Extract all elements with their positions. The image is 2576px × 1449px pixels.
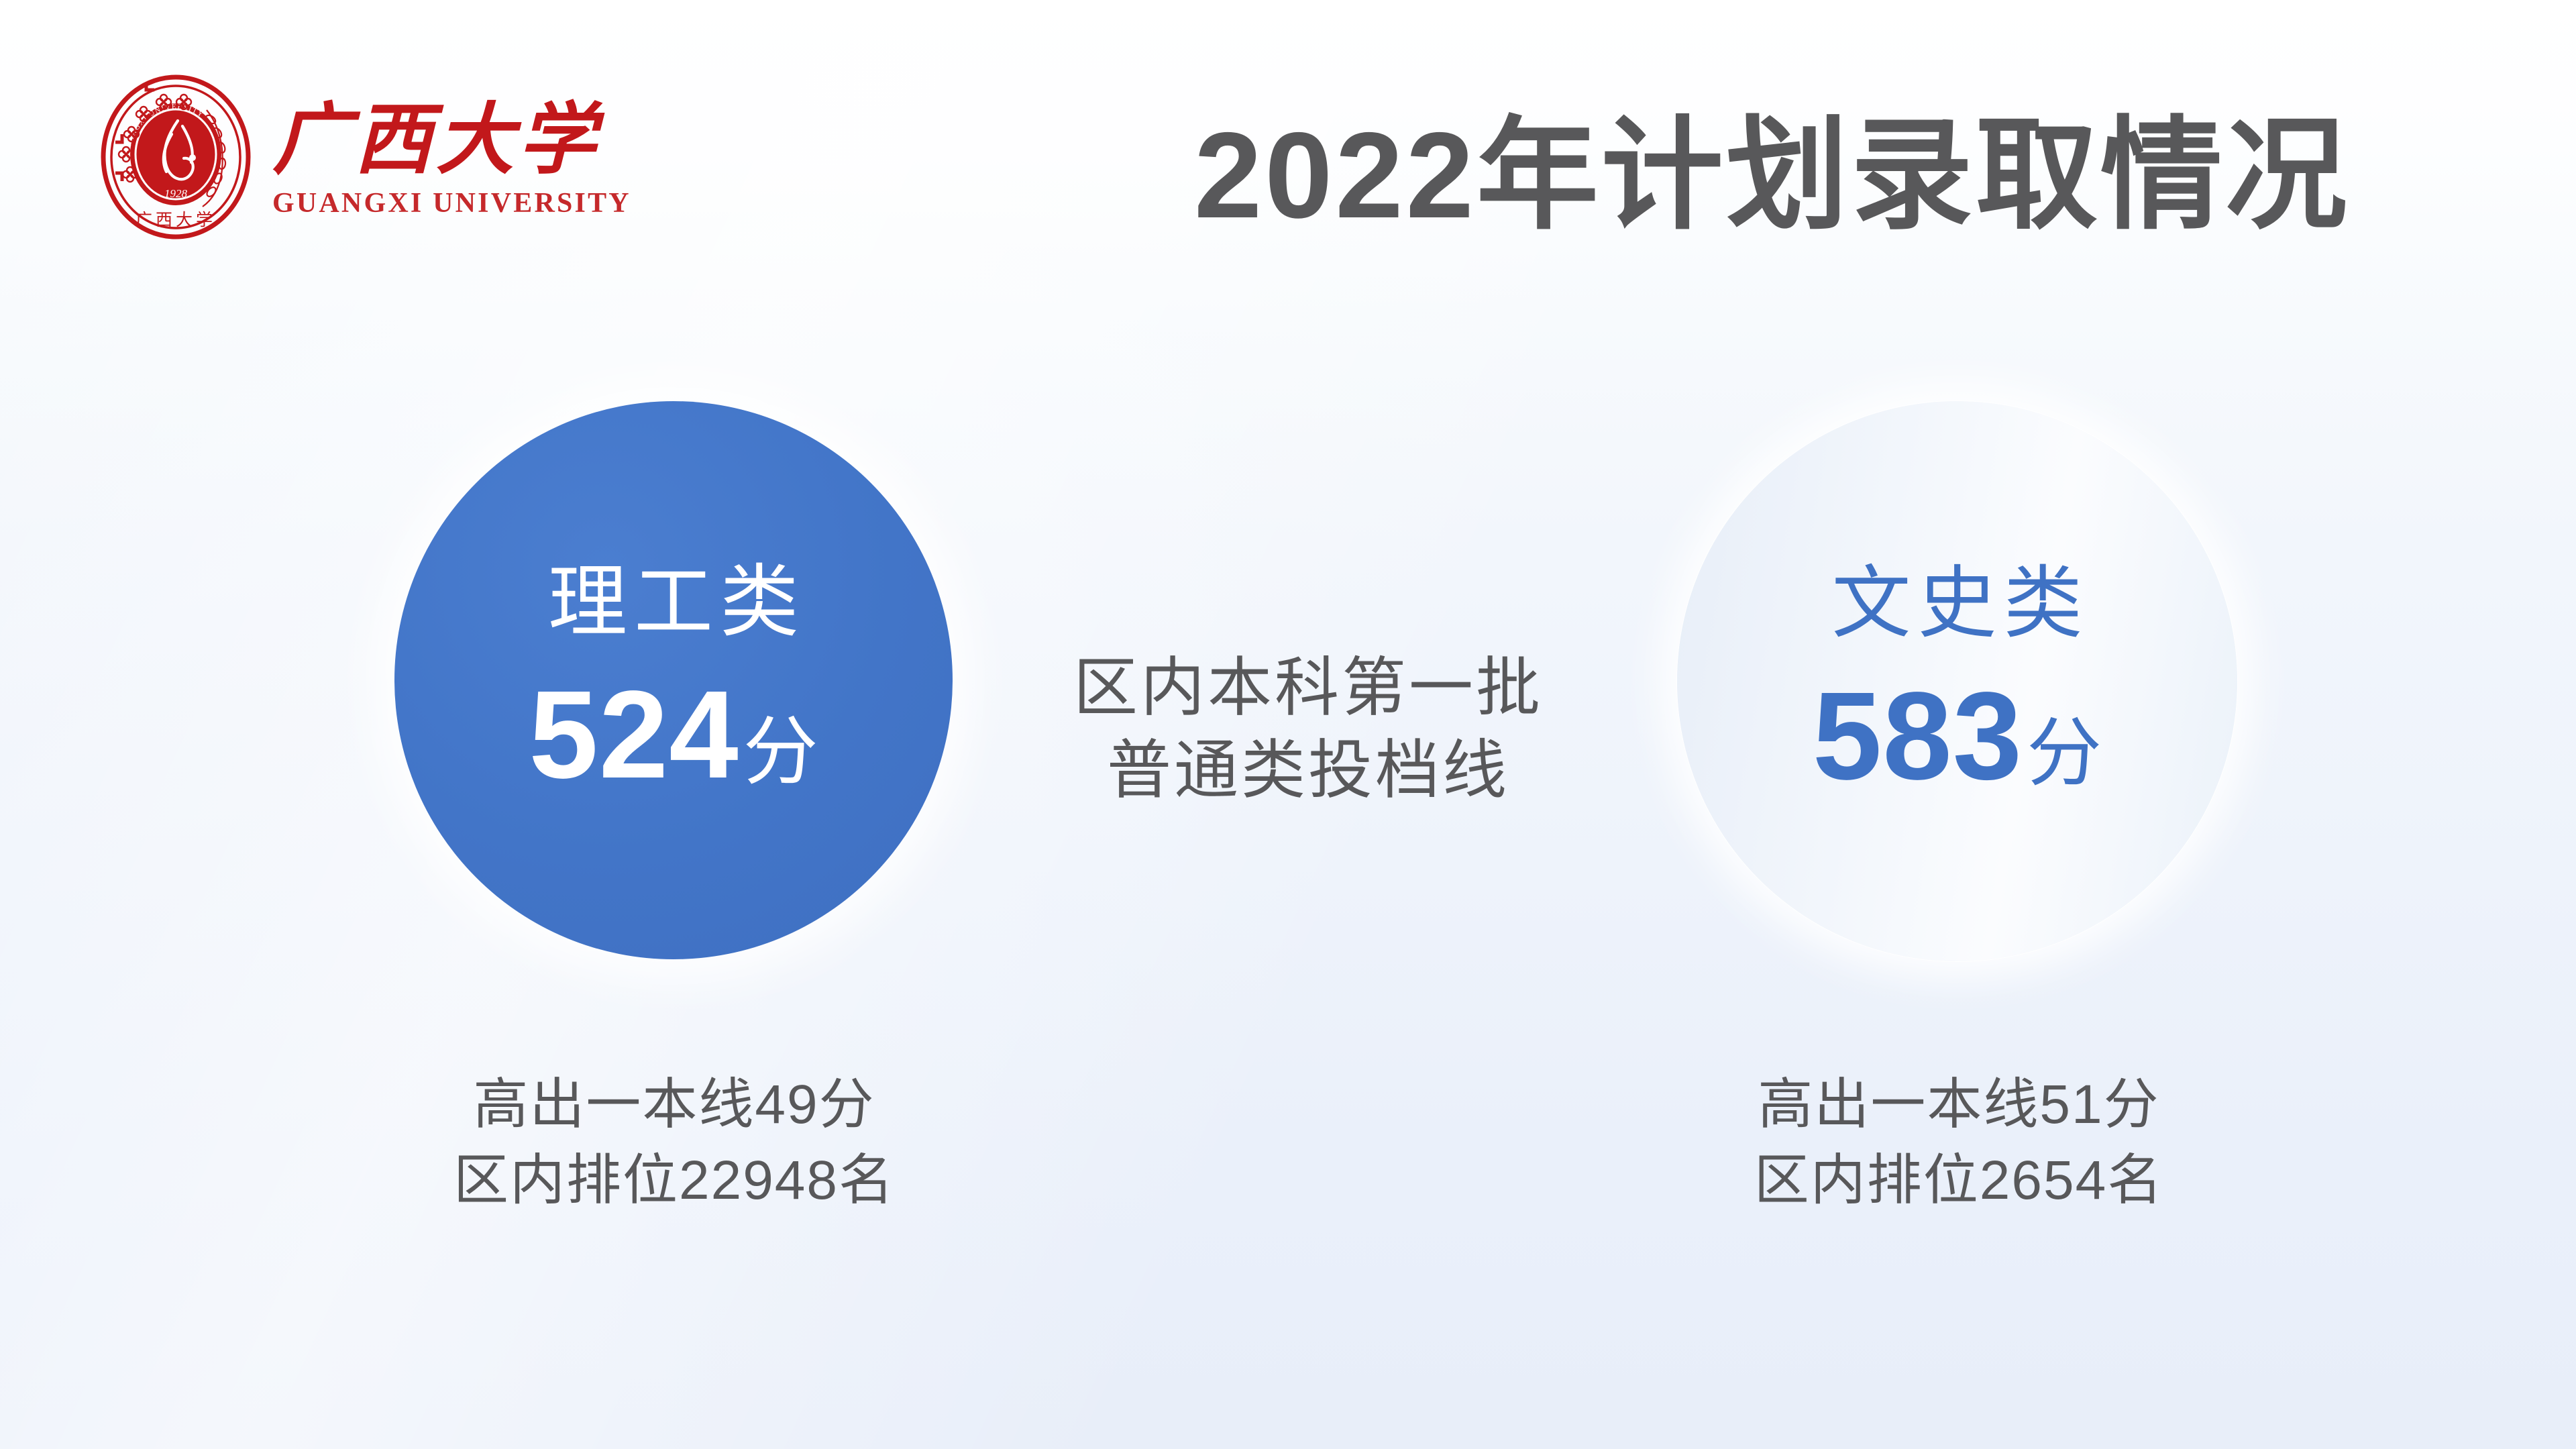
footnote-science-line-2: 区内排位22948名 <box>305 1142 1043 1218</box>
score-number-arts: 583 <box>1813 674 2023 799</box>
footnote-arts-line-1: 高出一本线51分 <box>1590 1067 2328 1142</box>
score-unit-arts: 分 <box>2027 716 2102 791</box>
score-unit-science: 分 <box>743 714 818 790</box>
footnote-arts: 高出一本线51分 区内排位2654名 <box>1590 1067 2328 1218</box>
footnote-science-line-1: 高出一本线49分 <box>305 1067 1043 1142</box>
logo-wordmark: 广西大学 GUANGXI UNIVERSITY <box>272 95 631 219</box>
logo-chinese-name: 广西大学 <box>272 101 631 180</box>
slide-root: GUANGXI UNIVERSITY 1928 广西大学 <box>0 0 2576 1449</box>
middle-caption: 区内本科第一批 普通类投档线 <box>973 647 1644 812</box>
score-circle-arts: 文史类 583 分 <box>1677 401 2237 961</box>
score-circle-science: 理工类 524 分 <box>394 401 953 959</box>
logo-english-name: GUANGXI UNIVERSITY <box>272 187 631 219</box>
score-number-science: 524 <box>529 673 739 798</box>
svg-text:1928: 1928 <box>164 187 188 200</box>
score-value-science: 524 分 <box>529 673 818 798</box>
score-circle-label-arts: 文史类 <box>1825 564 2089 643</box>
university-logo: GUANGXI UNIVERSITY 1928 广西大学 <box>99 72 631 241</box>
footnote-arts-line-2: 区内排位2654名 <box>1590 1142 2328 1218</box>
score-circle-label-science: 理工类 <box>541 563 806 642</box>
score-value-arts: 583 分 <box>1813 674 2102 799</box>
svg-text:广西大学: 广西大学 <box>136 211 216 229</box>
middle-caption-line-1: 区内本科第一批 <box>973 647 1644 730</box>
middle-caption-line-2: 普通类投档线 <box>973 730 1644 812</box>
footnote-science: 高出一本线49分 区内排位22948名 <box>305 1067 1043 1218</box>
page-title: 2022年计划录取情况 <box>1194 114 2350 236</box>
university-seal-icon: GUANGXI UNIVERSITY 1928 广西大学 <box>99 72 252 241</box>
